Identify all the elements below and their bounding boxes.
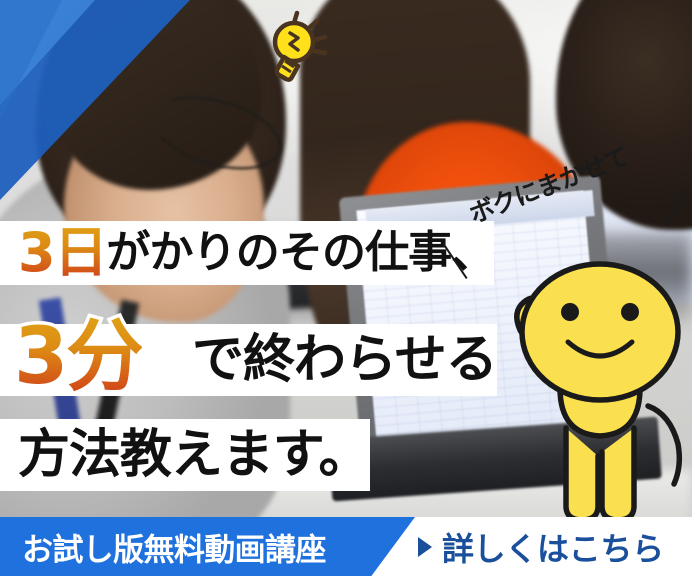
play-triangle-icon	[418, 537, 432, 557]
headline-accent-2-wrap: 3分 3分	[14, 300, 142, 396]
headline-text-1: がかりのその仕事、	[106, 231, 494, 275]
cta-details-link[interactable]: 詳しくはこちら	[418, 524, 664, 570]
mascot-character	[498, 238, 692, 530]
headline-band-3: 方法教えます。	[0, 419, 370, 491]
headline-accent-2: 3分	[14, 312, 142, 402]
cta-bar: お試し版無料動画講座 詳しくはこちら	[0, 517, 692, 576]
cta-badge[interactable]: お試し版無料動画講座	[0, 517, 415, 576]
lightbulb-icon	[258, 6, 344, 84]
advertisement-banner: ボクにまかせて 3日 3日 がかりのその仕事、 で終わらせる	[0, 0, 692, 576]
cta-link-label: 詳しくはこちら	[442, 524, 664, 570]
headline-band-1: 3日 3日 がかりのその仕事、	[0, 221, 494, 285]
headline-accent-1: 3日	[18, 221, 106, 284]
headline-accent-1-wrap: 3日 3日	[18, 226, 106, 280]
headline-text-2: で終わらせる	[192, 334, 497, 386]
cta-badge-label: お試し版無料動画講座	[22, 524, 326, 569]
headline-text-3: 方法教えます。	[18, 429, 370, 481]
blue-corner-decoration	[0, 0, 200, 210]
